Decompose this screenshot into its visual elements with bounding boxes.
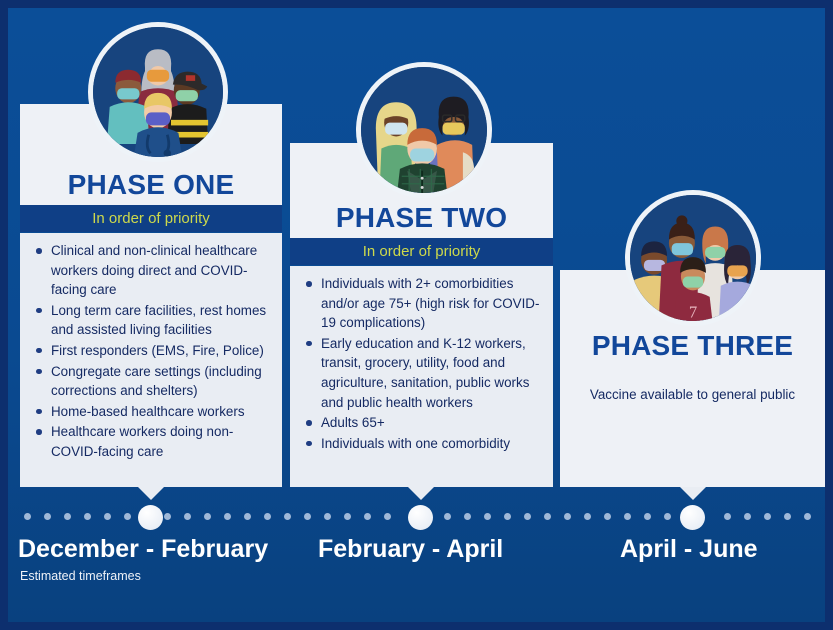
timeline-dot <box>204 513 211 520</box>
timeline-dot <box>584 513 591 520</box>
timeline-dot <box>104 513 111 520</box>
list-item: Adults 65+ <box>304 413 541 433</box>
phase-one-title: PHASE ONE <box>68 171 235 205</box>
phase-three-title: PHASE THREE <box>592 332 793 366</box>
list-item: Individuals with one comorbidity <box>304 434 541 454</box>
phase-three-note: Vaccine available to general public <box>560 387 825 402</box>
timeline-dot <box>764 513 771 520</box>
timeline-dot <box>284 513 291 520</box>
list-item: Early education and K-12 workers, transi… <box>304 334 541 412</box>
timeline-dot <box>244 513 251 520</box>
phase-two-title: PHASE TWO <box>336 204 507 238</box>
phase-two-pointer <box>408 487 434 500</box>
timeline-dot <box>324 513 331 520</box>
timeline-dot <box>164 513 171 520</box>
timeline-dot <box>524 513 531 520</box>
list-item: Clinical and non-clinical healthcare wor… <box>34 241 270 300</box>
phase-two-illustration <box>356 62 492 198</box>
timeline-dot <box>644 513 651 520</box>
phase-one-list: Clinical and non-clinical healthcare wor… <box>34 241 270 462</box>
timeline-dot <box>444 513 451 520</box>
timeline-label-3: April - June <box>620 537 758 562</box>
timeline-dot <box>44 513 51 520</box>
timeline-dot <box>304 513 311 520</box>
phase-two-list-card: Individuals with 2+ comorbidities and/or… <box>290 266 553 487</box>
timeline-dot <box>504 513 511 520</box>
timeline-dot <box>64 513 71 520</box>
timeline-dot <box>604 513 611 520</box>
list-item: Congregate care settings (including corr… <box>34 362 270 401</box>
timeline-dot <box>744 513 751 520</box>
phase-one-pointer <box>138 487 164 500</box>
list-item: First responders (EMS, Fire, Police) <box>34 341 270 361</box>
timeline-dot <box>224 513 231 520</box>
timeline-dot <box>544 513 551 520</box>
phase-one-subtitle-band: In order of priority <box>20 205 282 232</box>
timeline-dot <box>184 513 191 520</box>
timeline-node-3 <box>680 505 705 530</box>
timeline-dot <box>384 513 391 520</box>
timeline-dot <box>264 513 271 520</box>
infographic-frame: PHASE ONE In order of priority Clinical … <box>0 0 833 630</box>
timeline-dot <box>464 513 471 520</box>
timeline-node-1 <box>138 505 163 530</box>
phase-one-list-card: Clinical and non-clinical healthcare wor… <box>20 233 282 487</box>
timeline-dot <box>84 513 91 520</box>
timeline-dot <box>664 513 671 520</box>
list-item: Home-based healthcare workers <box>34 402 270 422</box>
phase-one-subtitle: In order of priority <box>92 211 210 226</box>
phase-two-subtitle-band: In order of priority <box>290 238 553 265</box>
timeline-dot <box>624 513 631 520</box>
timeline-dot <box>724 513 731 520</box>
timeline-note: Estimated timeframes <box>20 570 141 583</box>
timeline-dot <box>364 513 371 520</box>
svg-text:7: 7 <box>689 302 697 321</box>
timeline-label-1: December - February <box>18 537 268 562</box>
timeline-dot <box>124 513 131 520</box>
phase-two-subtitle: In order of priority <box>363 244 481 259</box>
list-item: Healthcare workers doing non-COVID-facin… <box>34 422 270 461</box>
timeline-dot <box>804 513 811 520</box>
timeline-dot <box>484 513 491 520</box>
timeline-dot <box>344 513 351 520</box>
list-item: Long term care facilities, rest homes an… <box>34 301 270 340</box>
phase-one-illustration <box>88 22 228 162</box>
phase-three-illustration: 7 <box>625 190 761 326</box>
phase-three-pointer <box>680 487 706 500</box>
timeline-dot <box>24 513 31 520</box>
timeline-node-2 <box>408 505 433 530</box>
phase-two-list: Individuals with 2+ comorbidities and/or… <box>304 274 541 453</box>
timeline-dot <box>564 513 571 520</box>
timeline-dot <box>784 513 791 520</box>
list-item: Individuals with 2+ comorbidities and/or… <box>304 274 541 333</box>
timeline-label-2: February - April <box>318 537 503 562</box>
